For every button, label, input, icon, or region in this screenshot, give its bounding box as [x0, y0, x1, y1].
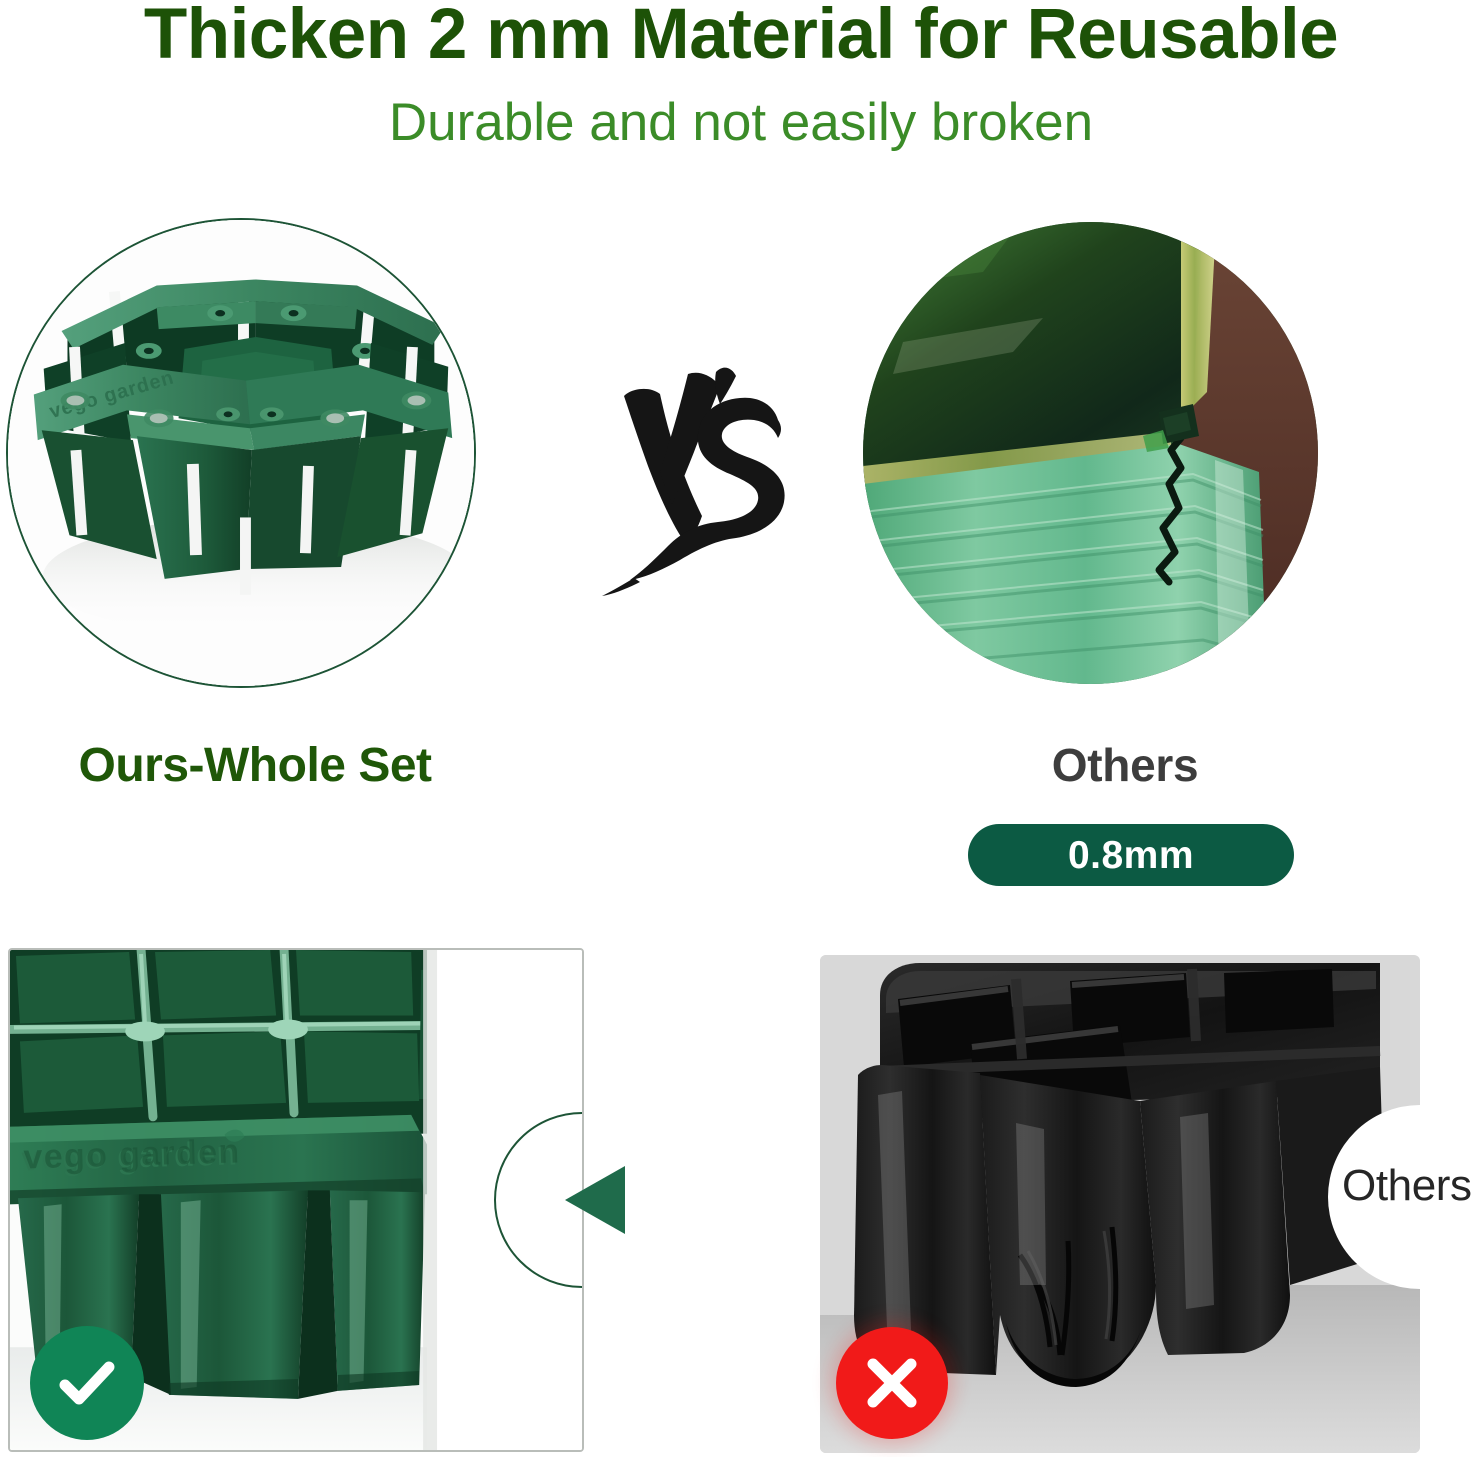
page-title: Thicken 2 mm Material for Reusable [0, 0, 1482, 75]
infographic-page: Thicken 2 mm Material for Reusable Durab… [0, 0, 1482, 1457]
arrow-left-icon [565, 1166, 625, 1234]
brand-emboss-shadow: vego garden [23, 1132, 241, 1176]
check-circle-icon [30, 1326, 144, 1440]
others-cracked-pot-illustration [863, 222, 1318, 684]
cross-circle-icon [836, 1327, 948, 1439]
ours-product-circle-photo: vego garden [6, 218, 476, 688]
cross-glyph [855, 1346, 929, 1420]
others-product-circle-photo [863, 222, 1318, 684]
others-thickness-value: 0.8mm [1068, 836, 1194, 875]
ours-label: Ours-Whole Set [0, 738, 510, 793]
others-label: Others [905, 738, 1345, 792]
others-panel-label: Others [1342, 1161, 1472, 1211]
others-thickness-badge: 0.8mm [968, 824, 1294, 886]
ours-tray-illustration: vego garden [8, 220, 474, 686]
page-subtitle: Durable and not easily broken [0, 92, 1482, 153]
vs-icon [588, 352, 808, 602]
check-glyph [51, 1347, 123, 1419]
